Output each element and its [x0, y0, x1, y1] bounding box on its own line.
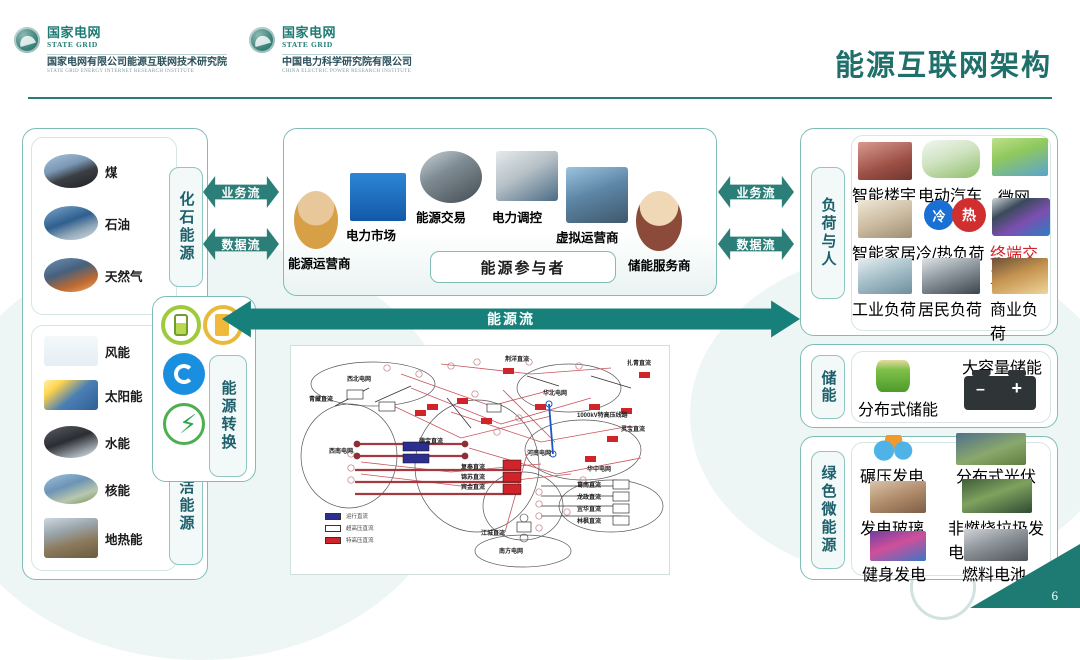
- item-caption: 核能: [105, 480, 130, 499]
- energy-storage-panel: 储能 分布式储能 大容量储能 – +: [800, 344, 1058, 428]
- logo-name-cn: 国家电网: [282, 26, 412, 39]
- battery-minus-glyph: –: [976, 382, 985, 398]
- item-caption: 地热能: [105, 529, 143, 548]
- map-label: 宜华直流: [577, 504, 601, 513]
- coal-image: [44, 154, 98, 188]
- map-label: 西北电网: [347, 374, 371, 383]
- load-and-people-panel: 负荷与人 智能楼宇 电动汽车 微网 智能家居 冷 热 冷/热负荷 终端交互 工业…: [800, 128, 1058, 336]
- map-label: 荆洋直流: [505, 354, 529, 363]
- green-micro-energy-panel: 绿色微能源 碾压发电 分布式光伏 发电玻璃 非燃烧垃圾发电 健身发电 燃料电池: [800, 436, 1058, 580]
- item-caption: 煤: [105, 162, 118, 181]
- page-title: 能源互联网架构: [835, 42, 1052, 84]
- battery-terminal-left: [972, 370, 990, 376]
- energy-participants-label: 能源参与者: [480, 257, 565, 278]
- map-legend: 运行直流 超高压直流 特高压直流: [325, 512, 374, 548]
- logo-state-grid-cepri: 国家电网 STATE GRID 中国电力科学研究院有限公司 CHINA ELEC…: [249, 26, 412, 74]
- state-grid-globe-icon: [249, 27, 275, 53]
- header-divider: [28, 97, 1052, 99]
- large-capacity-battery-icon: – +: [964, 376, 1036, 410]
- map-label: 葛南直流: [577, 480, 601, 489]
- list-item: 地热能: [44, 518, 143, 558]
- smart-home-image: [858, 200, 912, 238]
- map-label: 德宝直流: [419, 436, 443, 445]
- page-number: 6: [1052, 588, 1059, 604]
- flow-label: 业务流: [736, 184, 775, 201]
- legend-item: 运行直流: [325, 512, 374, 520]
- heating-load-icon: 热: [952, 198, 986, 232]
- label-energy-conversion: 能源转换: [209, 355, 247, 477]
- map-label: 河南电网: [527, 448, 551, 457]
- fossil-energy-card[interactable]: 煤 石油 天然气: [31, 137, 177, 315]
- flow-arrow-business-left: 业务流: [203, 176, 279, 208]
- hydro-power-image: [44, 426, 98, 458]
- flow-label: 数据流: [736, 236, 775, 253]
- piezo-power-image: [866, 435, 926, 461]
- item-caption: 健身发电: [862, 561, 926, 585]
- map-label: 龙政直流: [577, 492, 601, 501]
- cooling-label: 冷: [932, 206, 945, 225]
- storage-service-avatar: [636, 191, 682, 251]
- energy-trading-image: [420, 151, 482, 203]
- map-label: 锦苏直流: [461, 472, 485, 481]
- map-label: 扎青直流: [627, 358, 651, 367]
- item-caption: 风能: [105, 342, 130, 361]
- list-item: 风能: [44, 336, 130, 366]
- legend-swatch: [325, 537, 341, 544]
- item-caption: 商业负荷: [990, 296, 1050, 344]
- item-caption: 太阳能: [105, 386, 143, 405]
- label-energy-storage: 储能: [811, 355, 845, 419]
- energy-operator-avatar: [294, 191, 338, 249]
- green-items-card[interactable]: 碾压发电 分布式光伏 发电玻璃 非燃烧垃圾发电 健身发电 燃料电池: [851, 442, 1051, 576]
- legend-swatch: [325, 513, 341, 520]
- item-caption: 电力市场: [346, 225, 396, 244]
- fitness-power-image: [870, 531, 926, 561]
- item-caption: 分布式储能: [858, 396, 938, 420]
- nuclear-power-image: [44, 474, 98, 504]
- flow-label: 数据流: [221, 236, 260, 253]
- power-market-image: [350, 173, 406, 221]
- map-label: 宾金直流: [461, 482, 485, 491]
- map-label: 华北电网: [543, 388, 567, 397]
- logo-subtitle-en: STATE GRID ENERGY INTERNET RESEARCH INST…: [47, 69, 227, 74]
- legend-item: 超高压直流: [325, 524, 374, 532]
- map-label: 江城直流: [481, 528, 505, 537]
- legend-label: 运行直流: [346, 512, 368, 520]
- item-caption: 石油: [105, 214, 130, 233]
- map-label: 青藏直流: [309, 394, 333, 403]
- map-label: 1000kV特高压线路: [577, 410, 628, 419]
- solar-power-image: [44, 380, 98, 410]
- battery-plus-glyph: +: [1011, 379, 1022, 397]
- map-label: 西南电网: [329, 446, 353, 455]
- terminal-interaction-image: [992, 198, 1050, 236]
- cooling-load-icon: 冷: [924, 200, 954, 230]
- microgrid-image: [992, 138, 1048, 176]
- flow-label: 业务流: [221, 184, 260, 201]
- energy-participants-panel: 能源运营商 电力市场 能源交易 电力调控 虚拟运营商 储能服务商 能源参与者: [283, 128, 717, 296]
- legend-swatch: [325, 525, 341, 532]
- label-fossil-energy: 化石能源: [169, 167, 203, 287]
- logo-subtitle-cn: 中国电力科学研究院有限公司: [282, 58, 412, 68]
- map-label: 复奉直流: [461, 462, 485, 471]
- map-label: 林枫直流: [577, 516, 601, 525]
- distributed-storage-icon: [876, 360, 910, 392]
- list-item: 核能: [44, 474, 130, 504]
- non-combustion-waste-power-image: [962, 479, 1032, 513]
- wind-power-image: [44, 336, 98, 366]
- natural-gas-image: [44, 258, 98, 292]
- item-caption: 能源交易: [416, 207, 466, 226]
- item-caption: 居民负荷: [918, 296, 982, 320]
- flow-arrow-business-right: 业务流: [718, 176, 794, 208]
- oil-image: [44, 206, 98, 240]
- label-green-micro-energy: 绿色微能源: [811, 451, 845, 569]
- power-glass-image: [870, 481, 926, 513]
- item-caption: 储能服务商: [628, 255, 691, 274]
- list-item: 石油: [44, 206, 130, 240]
- item-caption: 天然气: [105, 266, 143, 285]
- power-grid-map[interactable]: 西北电网 华北电网 西南电网 河南电网 华中电网 南方电网 青藏直流 扎青直流 …: [290, 345, 670, 575]
- load-items-card[interactable]: 智能楼宇 电动汽车 微网 智能家居 冷 热 冷/热负荷 终端交互 工业负荷 居民…: [851, 135, 1051, 331]
- logo-subtitle-en: CHINA ELECTRIC POWER RESEARCH INSTITUTE: [282, 69, 412, 74]
- logo-group: 国家电网 STATE GRID 国家电网有限公司能源互联网技术研究院 STATE…: [14, 26, 412, 74]
- logo-name-cn: 国家电网: [47, 26, 227, 39]
- legend-label: 特高压直流: [346, 536, 374, 544]
- electric-vehicle-image: [922, 140, 980, 178]
- energy-participants-label-box: 能源参与者: [430, 251, 616, 283]
- map-label: 华中电网: [587, 464, 611, 473]
- battery-glyph: [174, 314, 188, 336]
- state-grid-globe-icon: [14, 27, 40, 53]
- industrial-load-image: [858, 258, 912, 294]
- label-load-and-people: 负荷与人: [811, 167, 845, 299]
- logo-state-grid-eiri: 国家电网 STATE GRID 国家电网有限公司能源互联网技术研究院 STATE…: [14, 26, 227, 74]
- residential-load-image: [922, 258, 980, 294]
- power-dispatch-image: [496, 151, 558, 201]
- list-item: 水能: [44, 426, 130, 458]
- legend-label: 超高压直流: [346, 524, 374, 532]
- geothermal-power-image: [44, 518, 98, 558]
- heating-label: 热: [962, 205, 976, 225]
- list-item: 煤: [44, 154, 118, 188]
- logo-subtitle-cn: 国家电网有限公司能源互联网技术研究院: [47, 58, 227, 68]
- logo-name-en: STATE GRID: [282, 41, 412, 49]
- item-caption: 电力调控: [492, 207, 542, 226]
- item-caption: 虚拟运营商: [556, 227, 619, 246]
- distributed-pv-image: [956, 433, 1026, 465]
- fuel-cell-image: [964, 529, 1028, 561]
- map-label: 灵宝直流: [621, 424, 645, 433]
- map-label: 南方电网: [499, 546, 523, 555]
- page-header: 国家电网 STATE GRID 国家电网有限公司能源互联网技术研究院 STATE…: [0, 0, 1080, 104]
- energy-flow-label: 能源流: [487, 309, 535, 329]
- list-item: 太阳能: [44, 380, 143, 410]
- item-caption: 水能: [105, 433, 130, 452]
- list-item: 天然气: [44, 258, 143, 292]
- virtual-operator-image: [566, 167, 628, 223]
- item-caption: 工业负荷: [852, 296, 916, 320]
- battery-terminal-right: [1008, 370, 1026, 376]
- item-caption: 能源运营商: [288, 253, 351, 272]
- flow-arrow-data-right: 数据流: [718, 228, 794, 260]
- logo-name-en: STATE GRID: [47, 41, 227, 49]
- legend-item: 特高压直流: [325, 536, 374, 544]
- smart-building-image: [858, 142, 912, 180]
- commercial-load-image: [992, 258, 1048, 294]
- storage-items-card[interactable]: 分布式储能 大容量储能 – +: [851, 351, 1051, 423]
- recycle-glyph: [174, 364, 194, 384]
